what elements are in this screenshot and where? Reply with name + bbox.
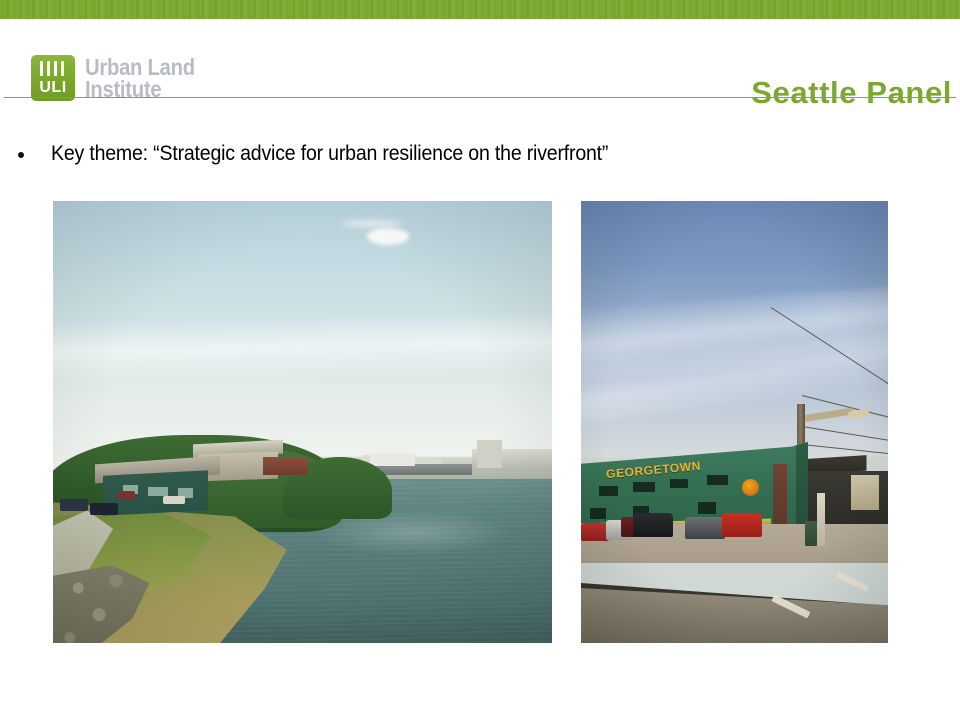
photo-vignette — [581, 201, 888, 643]
duwamish-riverfront-photo — [53, 201, 552, 643]
bullet-text: Key theme: “Strategic advice for urban r… — [51, 141, 608, 167]
georgetown-street-photo: GEORGETOWN — [581, 201, 888, 643]
uli-logo-mark-text: ULI — [31, 80, 75, 96]
uli-logo-mark-icon: ULI — [31, 55, 75, 101]
header-divider-rule — [4, 97, 956, 98]
bullet-marker-icon — [18, 152, 24, 158]
logo-bar-3 — [54, 61, 57, 76]
photo-vignette — [53, 201, 552, 643]
slide-canvas: ULI Urban Land Institute Seattle Panel K… — [0, 0, 960, 720]
logo-bar-4 — [61, 61, 64, 76]
logo-bar-1 — [40, 61, 43, 76]
uli-wordmark: Urban Land Institute — [85, 55, 195, 100]
slide-title: Seattle Panel — [751, 75, 952, 111]
slide-header: ULI Urban Land Institute Seattle Panel — [0, 19, 960, 98]
uli-logo: ULI Urban Land Institute — [31, 55, 210, 101]
logo-bar-2 — [47, 61, 50, 76]
top-green-banner — [0, 0, 960, 19]
bullet-list-item: Key theme: “Strategic advice for urban r… — [18, 141, 918, 167]
